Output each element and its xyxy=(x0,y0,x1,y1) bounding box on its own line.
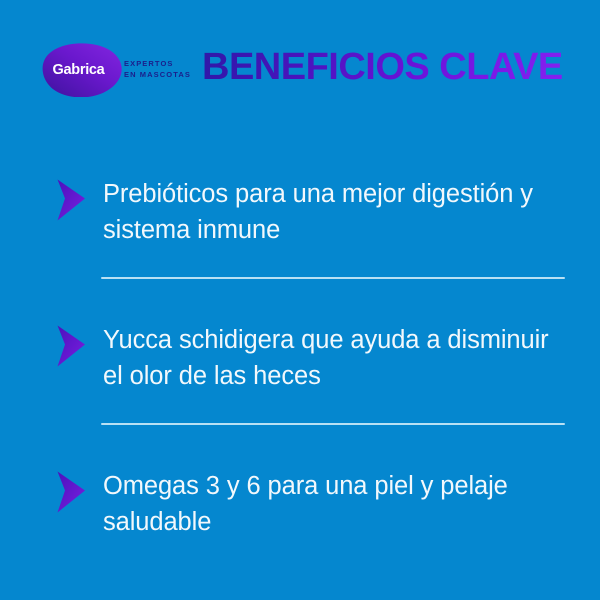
divider-line xyxy=(101,423,565,425)
chevron-right-icon xyxy=(56,179,86,221)
benefit-text: Prebióticos para una mejor digestión y s… xyxy=(103,160,566,248)
benefits-poster: Gabrica EXPERTOS EN MASCOTAS BENEFICIOS … xyxy=(0,0,600,600)
page-title: BENEFICIOS CLAVE xyxy=(202,44,563,90)
benefit-text: Omegas 3 y 6 para una piel y pelaje salu… xyxy=(103,452,566,540)
brand-tagline: EXPERTOS EN MASCOTAS xyxy=(124,59,191,80)
benefit-text: Yucca schidigera que ayuda a disminuir e… xyxy=(103,306,566,394)
benefit-divider xyxy=(0,396,600,452)
brand-logo: Gabrica xyxy=(36,43,122,97)
benefit-divider xyxy=(0,250,600,306)
benefits-list: Prebióticos para una mejor digestión y s… xyxy=(0,160,600,542)
benefit-item: Yucca schidigera que ayuda a disminuir e… xyxy=(0,306,600,396)
poster-header: Gabrica EXPERTOS EN MASCOTAS BENEFICIOS … xyxy=(0,0,600,130)
chevron-right-icon xyxy=(56,325,86,367)
benefit-item: Prebióticos para una mejor digestión y s… xyxy=(0,160,600,250)
logo-wordmark: Gabrica xyxy=(36,43,122,97)
benefit-item: Omegas 3 y 6 para una piel y pelaje salu… xyxy=(0,452,600,542)
chevron-right-icon xyxy=(56,471,86,513)
divider-line xyxy=(101,277,565,279)
